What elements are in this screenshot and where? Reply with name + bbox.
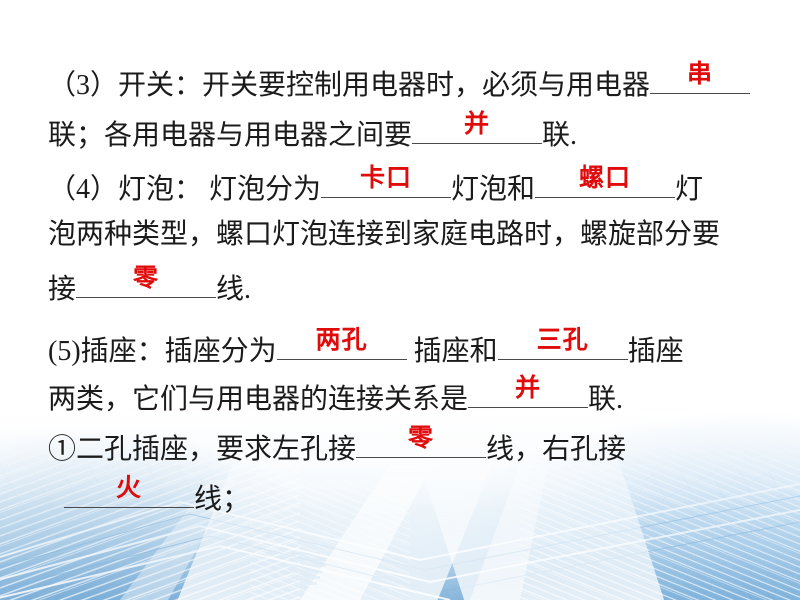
- blank-left-hole-neutral[interactable]: 零: [356, 428, 486, 458]
- blank-switch-series[interactable]: 串: [650, 64, 750, 94]
- content-line-bulb-1: （4）灯泡： 灯泡分为卡口灯泡和螺口灯: [48, 168, 703, 205]
- blank-three-hole-socket[interactable]: 三孔: [498, 330, 628, 360]
- line7-text-a: 两类，它们与用电器的连接关系是: [48, 384, 468, 415]
- line5-text-a: 接: [48, 274, 76, 305]
- line2-text-a: 联；各用电器与用电器之间要: [48, 120, 412, 151]
- answer-text: 零: [76, 263, 216, 293]
- answer-text: 零: [356, 423, 486, 453]
- answer-text: 串: [650, 59, 750, 89]
- line6-text-a: (5)插座：插座分为: [48, 336, 277, 367]
- answer-text: 并: [412, 109, 542, 139]
- line6-text-b: 插座和: [407, 336, 498, 367]
- answer-text: 并: [468, 373, 588, 403]
- blank-appliance-parallel[interactable]: 并: [412, 114, 542, 144]
- line5-text-b: 线.: [216, 274, 251, 305]
- line3-text-c: 灯: [675, 174, 703, 205]
- content-line-switch-1: （3）开关：开关要控制用电器时，必须与用电器串: [48, 64, 750, 101]
- line2-text-b: 联.: [542, 120, 577, 151]
- line6-text-c: 插座: [628, 336, 684, 367]
- line1-text: （3）开关：开关要控制用电器时，必须与用电器: [48, 70, 650, 101]
- line4-text: 泡两种类型，螺口灯泡连接到家庭电路时，螺旋部分要: [48, 219, 720, 250]
- blank-bayonet-bulb[interactable]: 卡口: [321, 168, 451, 198]
- line3-text-a: （4）灯泡： 灯泡分为: [48, 174, 321, 205]
- blank-neutral-wire-bulb[interactable]: 零: [76, 268, 216, 298]
- content-line-switch-2: 联；各用电器与用电器之间要并联.: [48, 114, 577, 151]
- content-line-socket-1: (5)插座：插座分为两孔 插座和三孔插座: [48, 330, 684, 367]
- content-line-socket-4: 火线；: [64, 478, 250, 515]
- answer-text: 卡口: [321, 163, 451, 193]
- line7-text-b: 联.: [588, 384, 623, 415]
- line8-text-b: 线，右孔接: [486, 434, 626, 465]
- blank-screw-bulb[interactable]: 螺口: [535, 168, 675, 198]
- answer-text: 两孔: [277, 325, 407, 355]
- line8-text-a: ①二孔插座，要求左孔接: [48, 434, 356, 465]
- line3-text-b: 灯泡和: [451, 174, 535, 205]
- answer-text: 火: [64, 473, 194, 503]
- blank-right-hole-live[interactable]: 火: [64, 478, 194, 508]
- content-line-bulb-2: 泡两种类型，螺口灯泡连接到家庭电路时，螺旋部分要: [48, 220, 720, 250]
- answer-text: 三孔: [498, 325, 628, 355]
- content-line-bulb-3: 接零线.: [48, 268, 251, 305]
- content-line-socket-3: ①二孔插座，要求左孔接零线，右孔接: [48, 428, 626, 465]
- content-line-socket-2: 两类，它们与用电器的连接关系是并联.: [48, 378, 623, 415]
- answer-text: 螺口: [535, 163, 675, 193]
- blank-socket-parallel[interactable]: 并: [468, 378, 588, 408]
- line9-text: 线；: [194, 484, 250, 515]
- slide-content: （3）开关：开关要控制用电器时，必须与用电器串 联；各用电器与用电器之间要并联.…: [0, 0, 800, 600]
- blank-two-hole-socket[interactable]: 两孔: [277, 330, 407, 360]
